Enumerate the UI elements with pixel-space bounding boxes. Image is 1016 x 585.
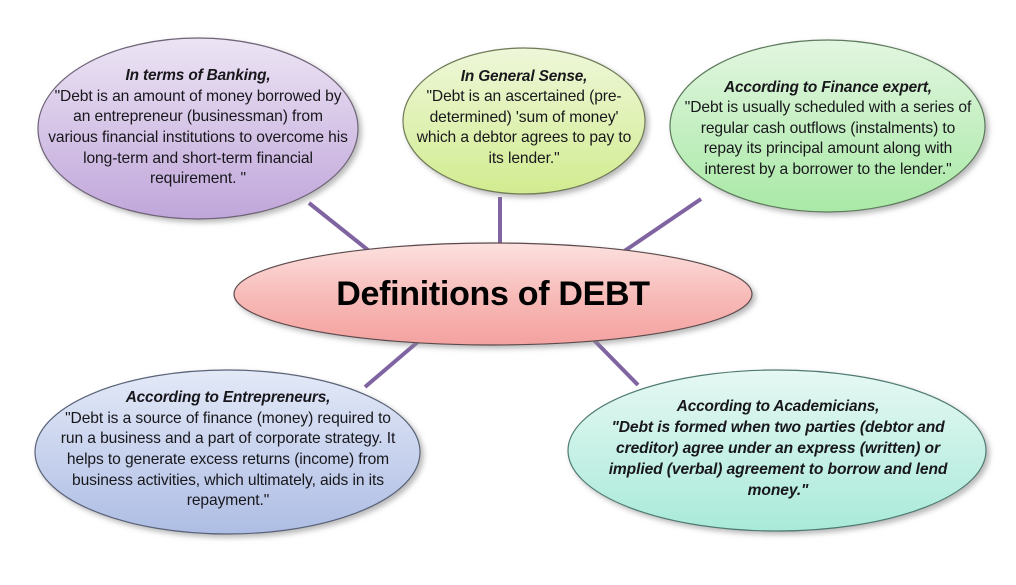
- node-finance[interactable]: [670, 40, 985, 212]
- node-general[interactable]: [403, 48, 645, 194]
- diagram-canvas: [0, 0, 1016, 585]
- node-center[interactable]: [234, 243, 752, 345]
- definitions-of-debt-diagram: In terms of Banking, "Debt is an amount …: [0, 0, 1016, 585]
- node-academicians[interactable]: [568, 370, 986, 531]
- node-banking[interactable]: [38, 38, 358, 219]
- node-entrepreneurs[interactable]: [35, 370, 420, 534]
- connector-finance-to-center: [617, 199, 701, 256]
- connector-academicians-to-center: [588, 334, 638, 385]
